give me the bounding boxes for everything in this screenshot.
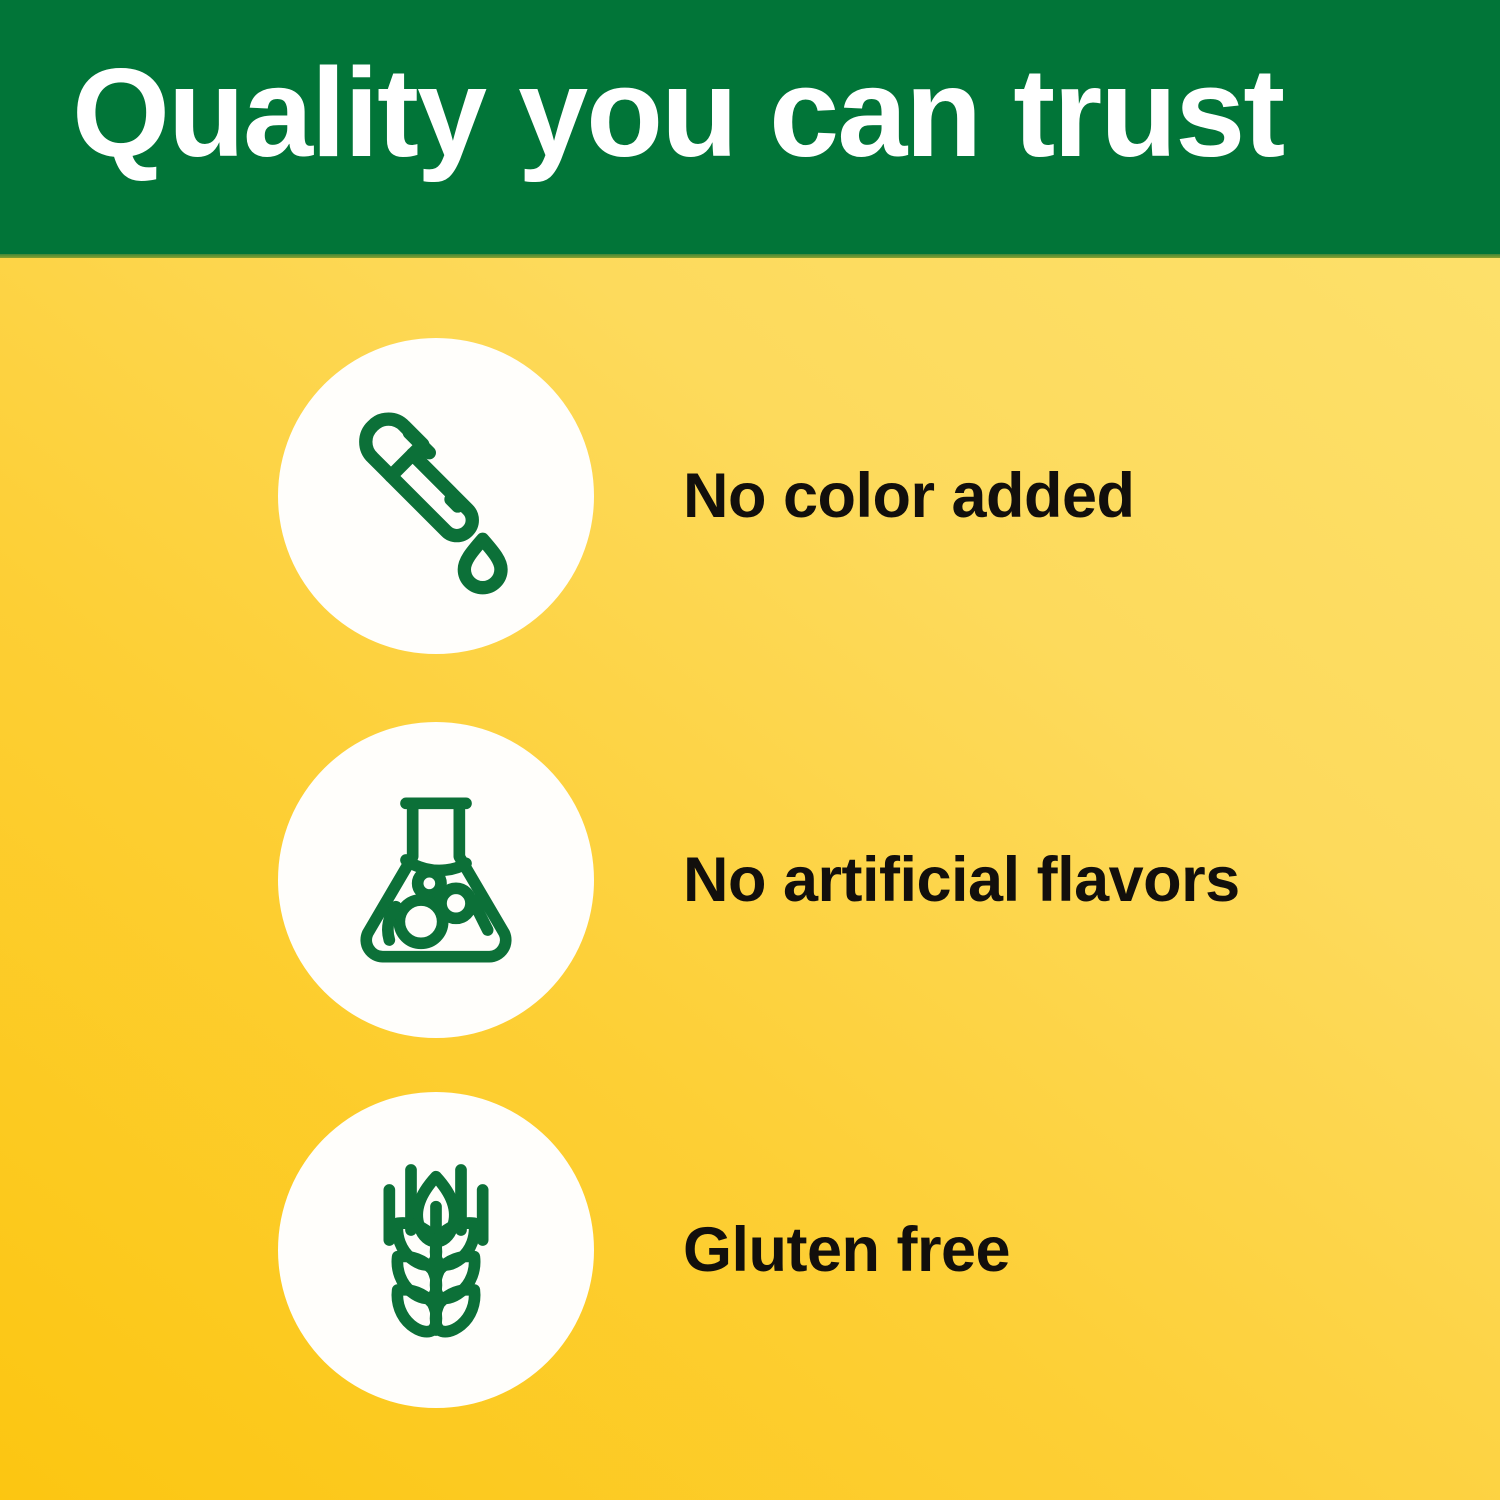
- icon-badge: [278, 338, 594, 654]
- feature-label: Gluten free: [683, 1214, 1010, 1286]
- quality-claims-poster: Quality you can trust No color added: [0, 0, 1500, 1500]
- feature-row-no-artificial-flavors: No artificial flavors: [0, 722, 1500, 1038]
- wheat-icon: [336, 1150, 536, 1350]
- feature-label: No artificial flavors: [683, 844, 1240, 916]
- feature-label: No color added: [683, 460, 1135, 532]
- icon-badge: [278, 1092, 594, 1408]
- page-title: Quality you can trust: [72, 50, 1283, 176]
- dropper-icon: [336, 396, 536, 596]
- header-band: Quality you can trust: [0, 0, 1500, 258]
- feature-row-gluten-free: Gluten free: [0, 1092, 1500, 1408]
- feature-row-no-color-added: No color added: [0, 338, 1500, 654]
- flask-icon: [336, 780, 536, 980]
- icon-badge: [278, 722, 594, 1038]
